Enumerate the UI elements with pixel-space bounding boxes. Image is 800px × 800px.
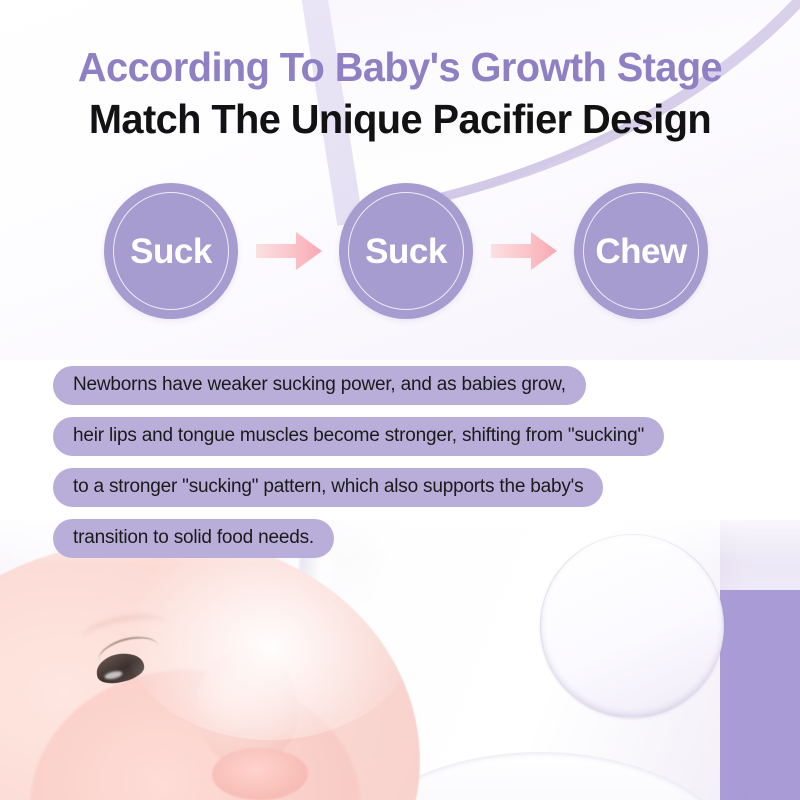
product-infographic-page: According To Baby's Growth Stage Match T… [0,0,800,800]
growth-stage-sequence: Suck Suck [104,183,708,319]
description-line: transition to solid food needs. [53,519,773,558]
headline-line-2: Match The Unique Pacifier Design [12,96,788,144]
stage-label-2: Suck [365,234,447,269]
description-pill-2: heir lips and tongue muscles become stro… [53,417,664,456]
arrow-right-icon-1 [256,229,322,273]
description-line: to a stronger "sucking" pattern, which a… [53,468,773,507]
stage-circle-3: Chew [574,183,708,319]
stage-circle-2: Suck [339,183,473,319]
stage-label-1: Suck [130,234,212,269]
description-line: heir lips and tongue muscles become stro… [53,417,773,456]
arrow-right-icon-2 [491,229,557,273]
headline-line-1: According To Baby's Growth Stage [12,44,788,92]
stage-label-3: Chew [595,234,686,269]
description-pill-1: Newborns have weaker sucking power, and … [53,366,586,405]
stage-circle-1: Suck [104,183,238,319]
baby-lip [212,748,308,800]
description-line: Newborns have weaker sucking power, and … [53,366,773,405]
description-pill-4: transition to solid food needs. [53,519,334,558]
description-block: Newborns have weaker sucking power, and … [53,366,773,570]
description-pill-3: to a stronger "sucking" pattern, which a… [53,468,603,507]
headline-block: According To Baby's Growth Stage Match T… [0,44,800,143]
